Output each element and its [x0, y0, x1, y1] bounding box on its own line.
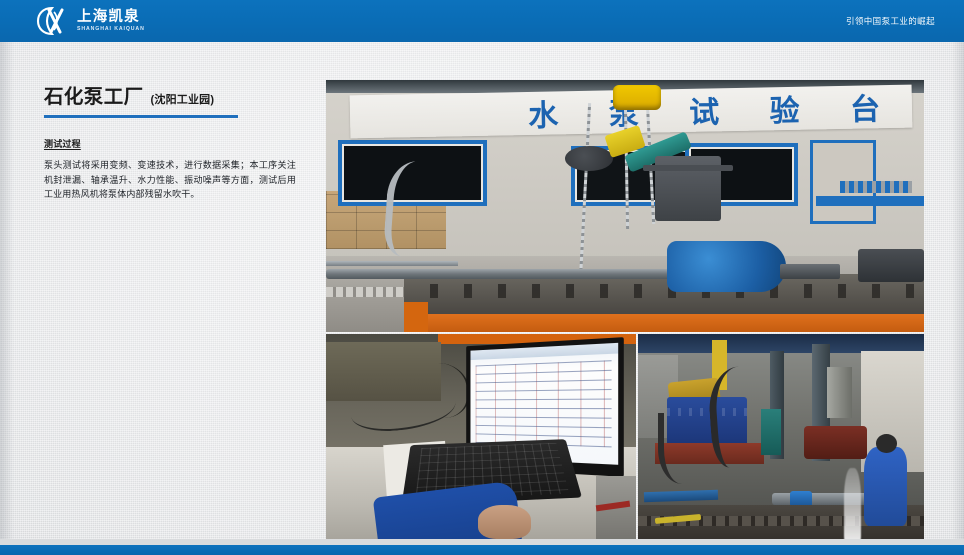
slide-title: 石化泵工厂 (沈阳工业园): [44, 80, 302, 113]
test-stand-banner-text: 水 泵 试 验 台: [508, 84, 901, 136]
brand-name-en: SHANGHAI KAIQUAN: [77, 27, 145, 32]
operator-hand: [478, 505, 531, 538]
kaiquan-logo-mark: [36, 6, 70, 36]
blue-centrifugal-pump: [667, 241, 787, 291]
page-header: 上海凯泉 SHANGHAI KAIQUAN 引领中国泵工业的崛起: [0, 0, 964, 42]
field-pump-skid-photo: [638, 334, 924, 543]
slide-content: 石化泵工厂 (沈阳工业园) 测试过程 泵头测试将采用变频、变速技术，进行数据采集…: [0, 42, 964, 537]
header-slogan: 引领中国泵工业的崛起: [846, 15, 935, 27]
red-pump-casing: [804, 426, 867, 459]
air-blow-spray: [844, 468, 861, 543]
photo-collage: 水 泵 试 验 台: [326, 80, 924, 543]
slide-title-main: 石化泵工厂: [44, 80, 144, 109]
brand-name-cn: 上海凯泉: [77, 10, 145, 25]
data-acquisition-photo: [326, 334, 636, 543]
section-label: 测试过程: [44, 137, 81, 150]
brand-logo[interactable]: 上海凯泉 SHANGHAI KAIQUAN: [36, 6, 145, 36]
section-body-text: 泵头测试将采用变频、变速技术，进行数据采集；本工序关注机封泄漏、轴承温升、水力性…: [44, 158, 296, 202]
text-column: 石化泵工厂 (沈阳工业园) 测试过程 泵头测试将采用变频、变速技术，进行数据采集…: [44, 80, 302, 202]
page-footer: [0, 545, 964, 555]
brand-logo-text: 上海凯泉 SHANGHAI KAIQUAN: [77, 10, 145, 33]
technician: [864, 447, 907, 526]
pump-test-stand-photo: 水 泵 试 验 台: [326, 80, 924, 332]
slide-title-sub: (沈阳工业园): [151, 91, 215, 107]
chain-hoist: [613, 85, 661, 110]
title-underline-rule: [44, 115, 238, 118]
